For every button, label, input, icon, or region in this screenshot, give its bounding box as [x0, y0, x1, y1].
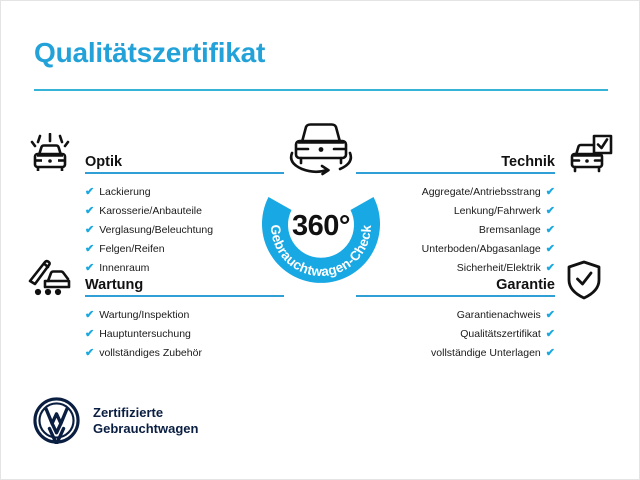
- check-icon: ✔: [546, 225, 555, 236]
- check-icon: ✔: [85, 206, 94, 217]
- list-item-label: Hauptuntersuchung: [99, 329, 191, 340]
- list-item-label: vollständige Unterlagen: [431, 348, 541, 359]
- list-item-label: Garantienachweis: [457, 310, 541, 321]
- list-item-label: Wartung/Inspektion: [99, 310, 189, 321]
- list-item-label: Aggregate/Antriebsstrang: [422, 187, 541, 198]
- car-front-lights-icon: [27, 133, 73, 175]
- footer-line-1: Zertifizierte: [93, 405, 198, 421]
- list-item-label: Bremsanlage: [479, 225, 541, 236]
- check-icon: ✔: [85, 225, 94, 236]
- check-icon: ✔: [546, 187, 555, 198]
- list-item: Garantienachweis✔: [356, 306, 555, 325]
- check-icon: ✔: [85, 348, 94, 359]
- footer-text: Zertifizierte Gebrauchtwagen: [93, 405, 198, 437]
- page-title: Qualitätszertifikat: [34, 37, 265, 69]
- list-item: ✔Hauptuntersuchung: [85, 325, 284, 344]
- list-item-label: vollständiges Zubehör: [99, 348, 202, 359]
- section-garantie-list: Garantienachweis✔ Qualitätszertifikat✔ v…: [356, 306, 555, 363]
- list-item-label: Lenkung/Fahrwerk: [454, 206, 541, 217]
- qualitaetszertifikat-page: Qualitätszertifikat: [0, 0, 640, 480]
- badge-360-gebrauchtwagen-check: Gebrauchtwagen-Check 360°: [243, 148, 399, 304]
- list-item-label: Verglasung/Beleuchtung: [99, 225, 213, 236]
- list-item-label: Karosserie/Anbauteile: [99, 206, 202, 217]
- list-item: ✔vollständiges Zubehör: [85, 344, 284, 363]
- list-item: vollständige Unterlagen✔: [356, 344, 555, 363]
- footer-branding: Zertifizierte Gebrauchtwagen: [33, 397, 198, 444]
- pen-car-service-icon: [27, 257, 73, 299]
- shield-check-icon: [563, 259, 609, 301]
- check-icon: ✔: [85, 329, 94, 340]
- section-optik-title: Optik: [85, 154, 122, 170]
- section-wartung-title: Wartung: [85, 277, 143, 293]
- badge-center-label: 360°: [243, 210, 399, 243]
- car-rotate-icon: [282, 116, 360, 182]
- car-checkbox-icon: [567, 133, 613, 175]
- section-garantie-title: Garantie: [496, 277, 555, 293]
- check-icon: ✔: [546, 310, 555, 321]
- check-icon: ✔: [546, 348, 555, 359]
- footer-line-2: Gebrauchtwagen: [93, 421, 198, 437]
- list-item-label: Felgen/Reifen: [99, 244, 164, 255]
- title-divider: [34, 89, 608, 91]
- list-item-label: Qualitätszertifikat: [460, 329, 541, 340]
- list-item: Qualitätszertifikat✔: [356, 325, 555, 344]
- list-item: ✔Wartung/Inspektion: [85, 306, 284, 325]
- list-item-label: Unterboden/Abgasanlage: [422, 244, 541, 255]
- check-icon: ✔: [85, 187, 94, 198]
- section-technik-title: Technik: [501, 154, 555, 170]
- check-icon: ✔: [85, 310, 94, 321]
- check-icon: ✔: [85, 244, 94, 255]
- check-icon: ✔: [546, 244, 555, 255]
- check-icon: ✔: [546, 329, 555, 340]
- section-wartung-list: ✔Wartung/Inspektion ✔Hauptuntersuchung ✔…: [85, 306, 284, 363]
- vw-logo-icon: [33, 397, 80, 444]
- check-icon: ✔: [546, 206, 555, 217]
- list-item-label: Lackierung: [99, 187, 150, 198]
